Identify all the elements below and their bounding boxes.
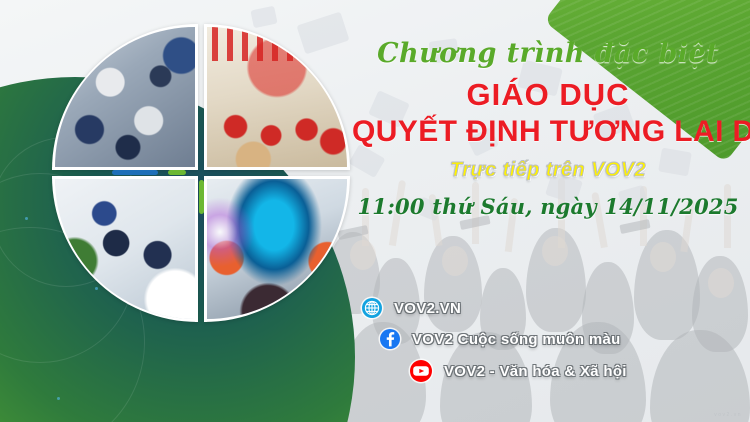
globe-icon	[360, 296, 384, 320]
laboratory-microscope-photo	[52, 176, 198, 322]
contact-row-website[interactable]: VOV2.VN	[352, 296, 744, 320]
students-at-desks-photo	[52, 24, 198, 170]
contact-row-youtube[interactable]: VOV2 - Văn hóa & Xã hội	[352, 358, 744, 384]
program-kicker: Chương trình đặc biệt	[352, 38, 744, 69]
contact-row-facebook[interactable]: VOV2 Cuộc sống muôn màu	[352, 327, 744, 351]
title-line-2: QUYẾT ĐỊNH TƯƠNG LAI DÂN TỘC	[352, 115, 744, 148]
title-line-1: GIÁO DỤC	[352, 78, 744, 112]
photo-collage	[52, 24, 352, 324]
contact-label-facebook: VOV2 Cuộc sống muôn màu	[412, 331, 621, 348]
facebook-icon	[378, 327, 402, 351]
broadcast-datetime: 11:00 thứ Sáu, ngày 14/11/2025	[352, 194, 744, 219]
classroom-with-flags-photo	[204, 24, 350, 170]
watermark-text: vov2.vn	[714, 412, 742, 418]
live-channel-text: Trực tiếp trên VOV2	[352, 159, 744, 182]
teacher-tech-screen-photo	[204, 176, 350, 322]
accent-nub	[199, 180, 204, 214]
contact-label-youtube: VOV2 - Văn hóa & Xã hội	[444, 363, 627, 380]
accent-nub	[168, 170, 186, 175]
contact-list: VOV2.VN VOV2 Cuộc sống muôn màu VOV2 - V…	[352, 296, 744, 391]
contact-label-website: VOV2.VN	[394, 300, 461, 317]
headline-block: Chương trình đặc biệt GIÁO DỤC QUYẾT ĐỊN…	[352, 38, 744, 219]
poster-canvas: Chương trình đặc biệt GIÁO DỤC QUYẾT ĐỊN…	[0, 0, 750, 422]
accent-nub	[112, 170, 158, 175]
youtube-icon	[408, 358, 434, 384]
